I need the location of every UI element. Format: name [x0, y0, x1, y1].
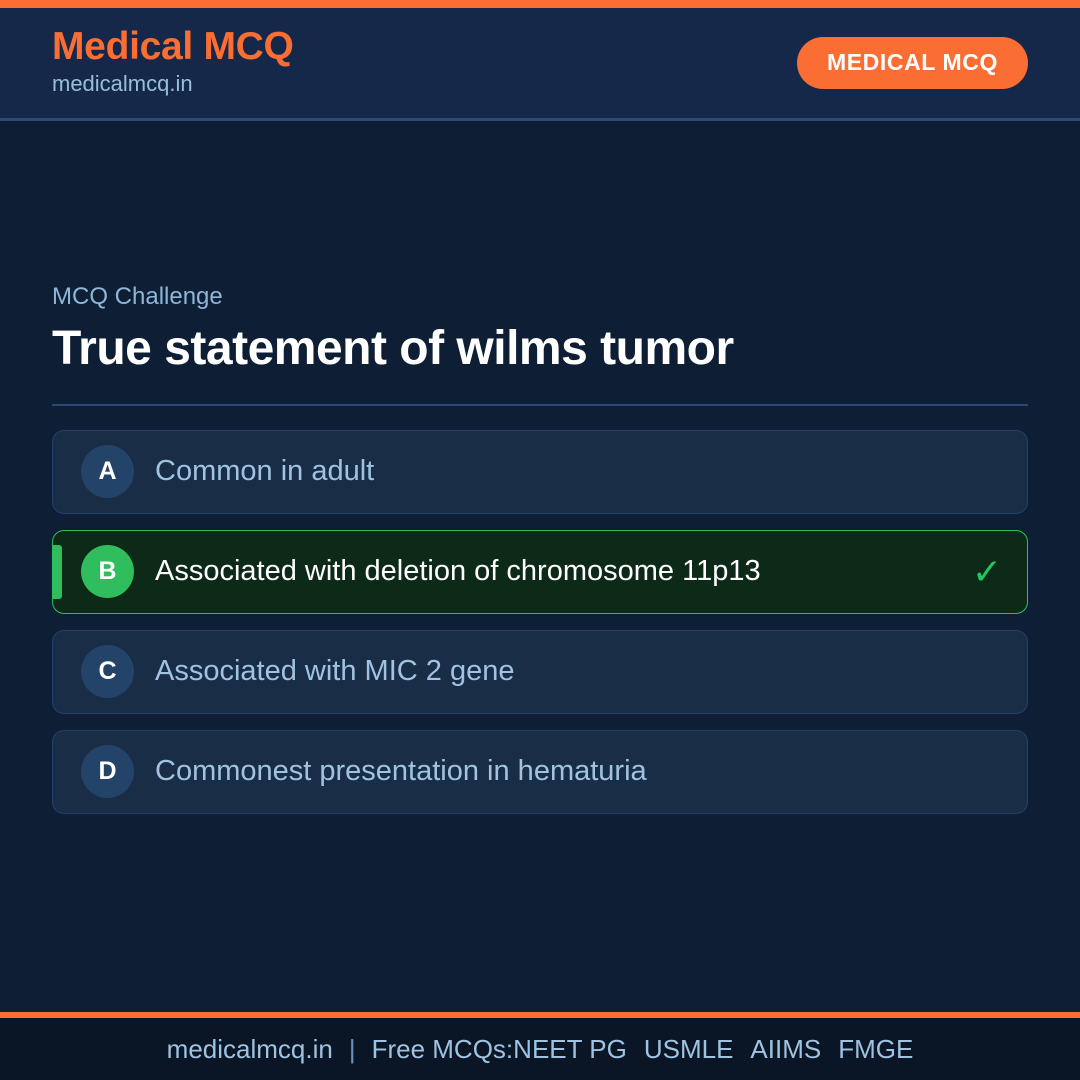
mcq-card: Medical MCQ medicalmcq.in MEDICAL MCQ MC… [0, 0, 1080, 1080]
options-list: A Common in adult ✓ B Associated with de… [52, 430, 1028, 814]
footer-site[interactable]: medicalmcq.in [167, 1034, 333, 1065]
footer-exam-fmge[interactable]: FMGE [838, 1034, 913, 1065]
option-text: Common in adult [155, 454, 967, 489]
option-b[interactable]: B Associated with deletion of chromosome… [52, 530, 1028, 614]
header-badge: MEDICAL MCQ [797, 37, 1028, 89]
divider [52, 404, 1028, 406]
footer-exam-neet-pg[interactable]: NEET PG [513, 1034, 627, 1065]
option-c[interactable]: C Associated with MIC 2 gene ✓ [52, 630, 1028, 714]
option-text: Commonest presentation in hematuria [155, 754, 967, 789]
option-letter-badge: C [81, 645, 134, 698]
option-text: Associated with MIC 2 gene [155, 654, 967, 689]
option-a[interactable]: A Common in adult ✓ [52, 430, 1028, 514]
option-d[interactable]: D Commonest presentation in hematuria ✓ [52, 730, 1028, 814]
option-text: Associated with deletion of chromosome 1… [155, 554, 967, 589]
question-title: True statement of wilms tumor [52, 322, 1028, 376]
main-content: MCQ Challenge True statement of wilms tu… [0, 121, 1080, 1012]
footer-exam-aiims[interactable]: AIIMS [750, 1034, 821, 1065]
option-letter-badge: B [81, 545, 134, 598]
brand-title: Medical MCQ [52, 27, 294, 68]
header: Medical MCQ medicalmcq.in MEDICAL MCQ [0, 8, 1080, 121]
footer-exam-usmle[interactable]: USMLE [644, 1034, 734, 1065]
eyebrow-label: MCQ Challenge [52, 283, 1028, 312]
check-icon: ✓ [967, 554, 1007, 590]
accent-bar [53, 545, 62, 599]
brand-block: Medical MCQ medicalmcq.in [52, 27, 294, 98]
option-letter-badge: D [81, 745, 134, 798]
question-block: MCQ Challenge True statement of wilms tu… [52, 283, 1028, 814]
footer-prefix: Free MCQs: [372, 1034, 514, 1065]
footer-separator: | [333, 1034, 372, 1065]
footer-exam-list: NEET PG USMLE AIIMS FMGE [513, 1034, 913, 1065]
top-accent-bar [0, 0, 1080, 8]
footer: medicalmcq.in | Free MCQs: NEET PG USMLE… [0, 1018, 1080, 1080]
option-letter-badge: A [81, 445, 134, 498]
brand-subtitle: medicalmcq.in [52, 70, 294, 99]
